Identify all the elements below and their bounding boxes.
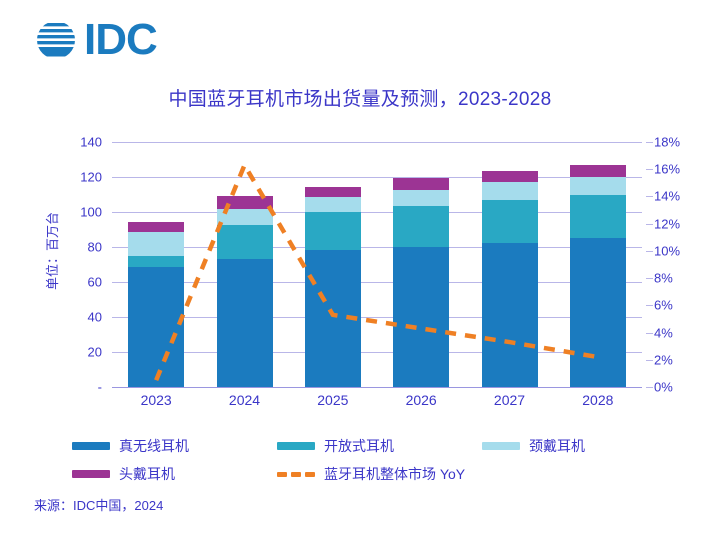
x-axis-labels: 202320242025202620272028 — [112, 392, 642, 416]
y-tick-label-left: 20 — [88, 346, 102, 359]
y-tick-mark-right — [646, 196, 653, 197]
y-tick-label-left: 140 — [80, 136, 102, 149]
yoy-polyline — [156, 165, 598, 380]
y-tick-label-right: 4% — [654, 326, 673, 339]
legend-item[interactable]: 头戴耳机 — [72, 464, 175, 484]
x-tick-label: 2025 — [305, 392, 361, 408]
y-tick-label-left: 60 — [88, 276, 102, 289]
y-tick-label-right: 6% — [654, 299, 673, 312]
y-tick-label-right: 16% — [654, 163, 680, 176]
y-tick-label-left: - — [98, 381, 102, 394]
y-tick-mark-right — [646, 360, 653, 361]
chart-title: 中国蓝牙耳机市场出货量及预测，2023-2028 — [0, 84, 720, 111]
y-tick-mark-right — [646, 278, 653, 279]
x-tick-label: 2026 — [393, 392, 449, 408]
y-tick-mark-right — [646, 305, 653, 306]
legend-label: 颈戴耳机 — [529, 436, 585, 456]
y-axis-right: 18%16%14%12%10%8%6%4%2%0% — [646, 133, 698, 395]
y-axis-left: 14012010080604020- — [62, 133, 108, 395]
idc-globe-icon — [32, 16, 80, 64]
legend-color-swatch — [72, 442, 110, 450]
legend-color-swatch — [482, 442, 520, 450]
y-tick-label-left: 120 — [80, 171, 102, 184]
y-tick-label-right: 14% — [654, 190, 680, 203]
y-tick-mark-right — [646, 251, 653, 252]
x-axis-line — [112, 387, 642, 389]
x-tick-label: 2027 — [482, 392, 538, 408]
legend-label: 真无线耳机 — [119, 436, 189, 456]
idc-logo: IDC — [32, 16, 157, 64]
plot-area — [112, 142, 642, 387]
y-tick-mark-right — [646, 333, 653, 334]
y-tick-mark-right — [646, 387, 653, 388]
y-tick-label-left: 80 — [88, 241, 102, 254]
y-tick-mark-right — [646, 224, 653, 225]
y-tick-mark-right — [646, 142, 653, 143]
y-tick-label-right: 10% — [654, 244, 680, 257]
legend-item[interactable]: 颈戴耳机 — [482, 436, 585, 456]
legend-label: 开放式耳机 — [324, 436, 394, 456]
y-tick-label-left: 100 — [80, 206, 102, 219]
chart-legend: 真无线耳机开放式耳机颈戴耳机 头戴耳机蓝牙耳机整体市场 YoY — [72, 432, 672, 488]
legend-item[interactable]: 真无线耳机 — [72, 436, 189, 456]
legend-row-1: 真无线耳机开放式耳机颈戴耳机 — [72, 432, 672, 460]
idc-logo-text: IDC — [84, 18, 157, 62]
y-tick-label-left: 40 — [88, 311, 102, 324]
y-tick-label-right: 0% — [654, 381, 673, 394]
legend-row-2: 头戴耳机蓝牙耳机整体市场 YoY — [72, 460, 672, 488]
legend-label: 蓝牙耳机整体市场 YoY — [324, 464, 465, 484]
y-tick-label-right: 12% — [654, 217, 680, 230]
y-tick-label-right: 8% — [654, 272, 673, 285]
x-tick-label: 2024 — [217, 392, 273, 408]
y-tick-mark-right — [646, 169, 653, 170]
legend-item[interactable]: 开放式耳机 — [277, 436, 394, 456]
y-tick-label-right: 18% — [654, 136, 680, 149]
source-note: 来源：IDC中国，2024 — [34, 495, 163, 514]
legend-color-swatch — [277, 442, 315, 450]
legend-dashed-swatch — [277, 472, 315, 477]
x-tick-label: 2028 — [570, 392, 626, 408]
x-tick-label: 2023 — [128, 392, 184, 408]
y-axis-label-left: 单位：百万台 — [42, 212, 61, 290]
chart-page: IDC 中国蓝牙耳机市场出货量及预测，2023-2028 单位：百万台 1401… — [0, 0, 720, 535]
legend-item[interactable]: 蓝牙耳机整体市场 YoY — [277, 464, 465, 484]
yoy-line-series — [112, 142, 642, 387]
legend-color-swatch — [72, 470, 110, 478]
y-tick-label-right: 2% — [654, 353, 673, 366]
legend-label: 头戴耳机 — [119, 464, 175, 484]
